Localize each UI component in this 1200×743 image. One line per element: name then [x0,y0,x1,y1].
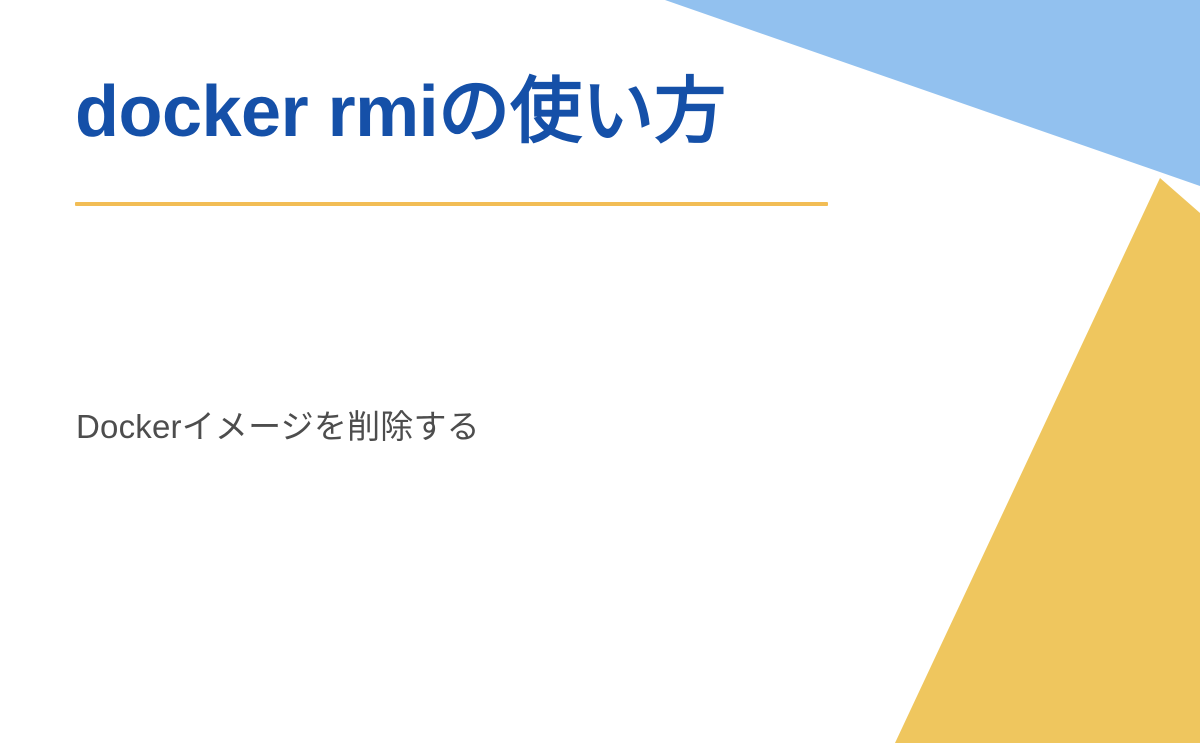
slide-subtitle: Dockerイメージを削除する [76,404,480,450]
page-title: docker rmiの使い方 [75,72,855,153]
title-slide: docker rmiの使い方 Dockerイメージを削除する [0,0,1200,743]
title-block: docker rmiの使い方 [75,72,855,153]
page-title-japanese: の使い方 [438,72,726,152]
page-title-latin: docker rmi [75,72,438,152]
yellow-corner-wedge [895,178,1200,743]
title-underline [75,202,828,206]
